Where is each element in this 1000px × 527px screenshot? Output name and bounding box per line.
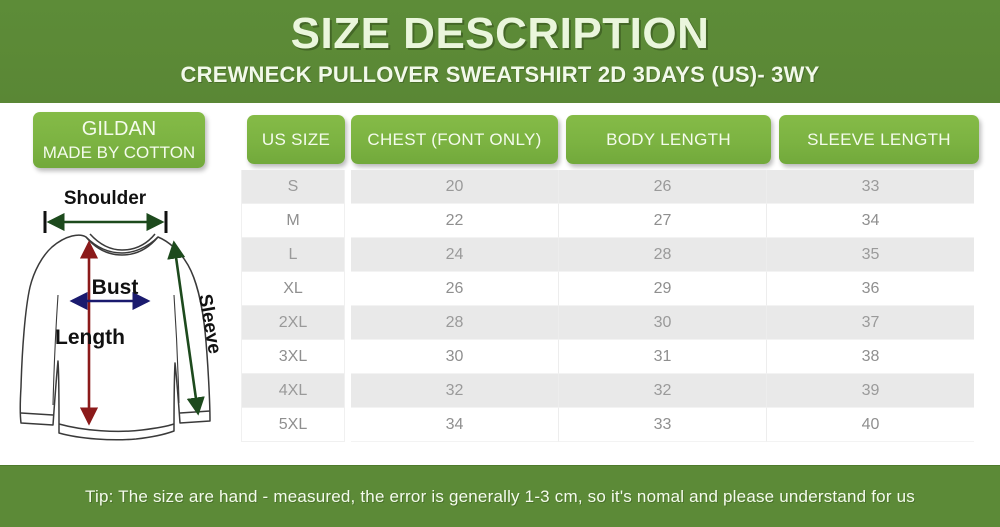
cell-body-length: 29	[558, 272, 766, 306]
page-subtitle: CREWNECK PULLOVER SWEATSHIRT 2D 3DAYS (U…	[0, 59, 1000, 89]
cell-sleeve-length: 35	[766, 238, 974, 272]
column-header-chest: CHEST (FONT ONLY)	[351, 115, 558, 164]
sweatshirt-measurement-diagram: Shoulder Length Bust Sleeve	[8, 175, 236, 455]
table-row: S 20 26 33	[241, 170, 980, 204]
column-header-us-size: US SIZE	[247, 115, 345, 164]
cell-chest: 24	[351, 238, 558, 272]
cell-chest: 30	[351, 340, 558, 374]
cell-size: 4XL	[241, 374, 345, 408]
shoulder-measure-arrow	[45, 211, 166, 233]
size-table: S 20 26 33 M 22 27 34 L 24 28 35 XL 26 2…	[241, 170, 980, 442]
poster-header: SIZE DESCRIPTION CREWNECK PULLOVER SWEAT…	[0, 0, 1000, 103]
cell-body-length: 27	[558, 204, 766, 238]
footer-tip-text: Tip: The size are hand - measured, the e…	[85, 487, 915, 507]
cell-size: M	[241, 204, 345, 238]
cell-chest: 22	[351, 204, 558, 238]
brand-name: GILDAN	[82, 117, 156, 142]
cell-sleeve-length: 36	[766, 272, 974, 306]
cell-size: S	[241, 170, 345, 204]
page-title: SIZE DESCRIPTION	[0, 0, 1000, 59]
cell-body-length: 31	[558, 340, 766, 374]
table-row: 3XL 30 31 38	[241, 340, 980, 374]
table-row: L 24 28 35	[241, 238, 980, 272]
cell-sleeve-length: 39	[766, 374, 974, 408]
table-row: 5XL 34 33 40	[241, 408, 980, 442]
cell-sleeve-length: 38	[766, 340, 974, 374]
bust-label: Bust	[92, 276, 139, 299]
cell-sleeve-length: 40	[766, 408, 974, 442]
cell-body-length: 26	[558, 170, 766, 204]
brand-material: MADE BY COTTON	[43, 142, 195, 164]
table-row: M 22 27 34	[241, 204, 980, 238]
shoulder-label: Shoulder	[64, 188, 147, 209]
cell-size: 5XL	[241, 408, 345, 442]
cell-size: L	[241, 238, 345, 272]
column-header-body-length: BODY LENGTH	[566, 115, 771, 164]
cell-chest: 28	[351, 306, 558, 340]
length-label: Length	[55, 326, 125, 349]
poster-footer: Tip: The size are hand - measured, the e…	[0, 465, 1000, 527]
table-row: XL 26 29 36	[241, 272, 980, 306]
cell-sleeve-length: 37	[766, 306, 974, 340]
table-row: 4XL 32 32 39	[241, 374, 980, 408]
cell-size: 2XL	[241, 306, 345, 340]
cell-body-length: 30	[558, 306, 766, 340]
cell-size: 3XL	[241, 340, 345, 374]
cell-sleeve-length: 34	[766, 204, 974, 238]
cell-chest: 34	[351, 408, 558, 442]
cell-chest: 20	[351, 170, 558, 204]
cell-body-length: 33	[558, 408, 766, 442]
brand-badge: GILDAN MADE BY COTTON	[33, 112, 205, 168]
cell-sleeve-length: 33	[766, 170, 974, 204]
table-row: 2XL 28 30 37	[241, 306, 980, 340]
cell-body-length: 32	[558, 374, 766, 408]
sweatshirt-icon: Shoulder Length Bust Sleeve	[8, 175, 236, 455]
cell-chest: 32	[351, 374, 558, 408]
column-header-sleeve-length: SLEEVE LENGTH	[779, 115, 979, 164]
cell-size: XL	[241, 272, 345, 306]
cell-chest: 26	[351, 272, 558, 306]
cell-body-length: 28	[558, 238, 766, 272]
size-chart-poster: SIZE DESCRIPTION CREWNECK PULLOVER SWEAT…	[0, 0, 1000, 527]
content-area: GILDAN MADE BY COTTON US SIZE CHEST (FON…	[0, 103, 1000, 465]
